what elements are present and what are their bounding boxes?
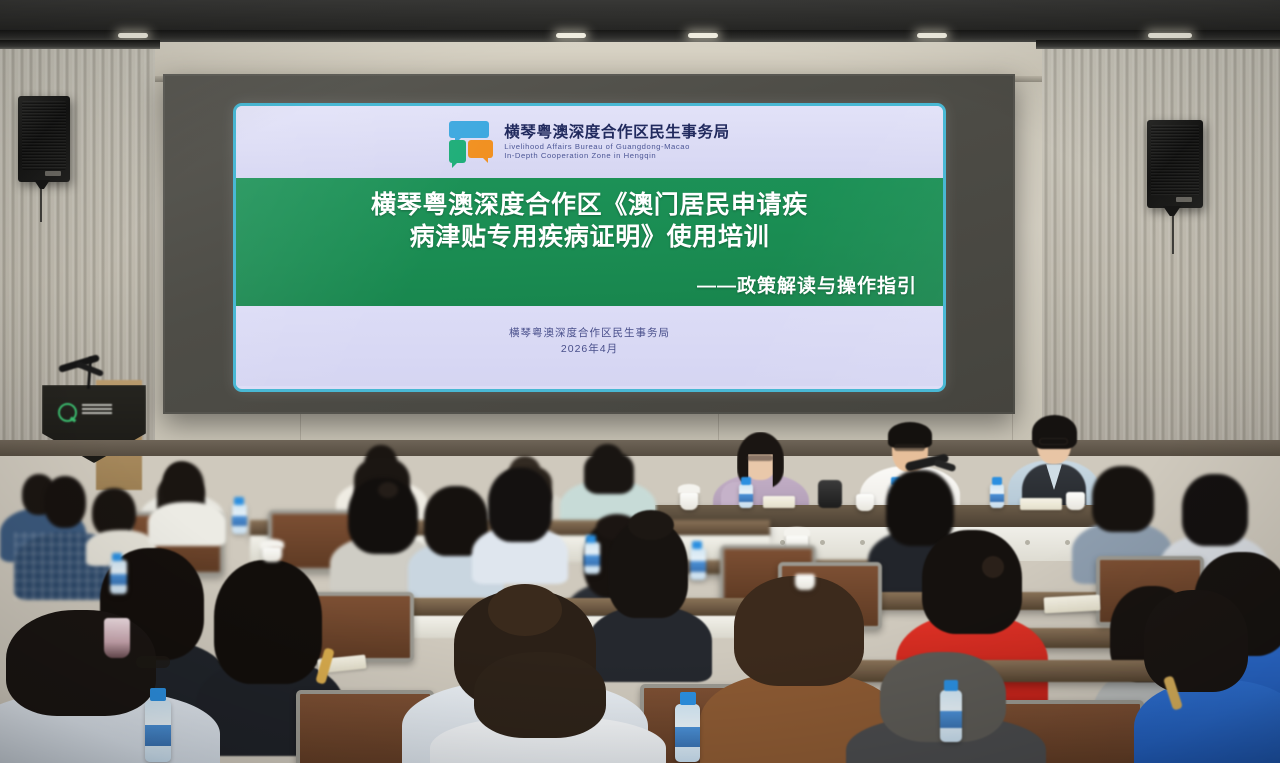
speaker-grille-icon	[1151, 125, 1199, 195]
audience-hair	[214, 560, 322, 684]
water-bottle	[675, 704, 700, 762]
hair-ponytail	[628, 510, 674, 540]
downlight	[688, 33, 718, 38]
tea-cup-lid	[678, 484, 700, 493]
audience-member	[472, 468, 568, 568]
slide-footer-text: 横琴粤澳深度合作区民生事务局 2026年4月	[236, 325, 943, 358]
paper-pad	[763, 496, 795, 508]
footer-date: 2026年4月	[236, 341, 943, 357]
bottle-cap	[112, 553, 122, 561]
downlight	[556, 33, 586, 38]
bottle-cap	[234, 497, 244, 505]
slide-header: 横琴粤澳深度合作区民生事务局 Livelihood Affairs Bureau…	[236, 106, 943, 178]
audience-body	[1134, 680, 1280, 763]
bureau-logo-icon	[449, 121, 493, 163]
downlight	[917, 33, 947, 38]
bottle-label	[940, 711, 962, 729]
drink-cup	[104, 618, 130, 658]
curtain-rail-right	[1036, 40, 1280, 49]
audience-hair	[1182, 474, 1248, 546]
panelist-center-glasses-icon	[894, 444, 925, 451]
bottle-label	[232, 516, 247, 526]
tea-cup	[795, 574, 815, 590]
audience-hair	[584, 452, 634, 494]
audience-member-foreground	[430, 686, 666, 763]
organization-name-block: 横琴粤澳深度合作区民生事务局 Livelihood Affairs Bureau…	[504, 124, 729, 161]
thermos	[818, 480, 842, 508]
audience-hair	[1144, 590, 1248, 692]
wall-speaker-right	[1147, 120, 1203, 208]
speaker-cable-left	[40, 188, 42, 222]
downlight	[118, 33, 148, 38]
notepad	[1044, 595, 1101, 614]
slide-subtitle: ——政策解读与操作指引	[697, 271, 917, 298]
bottle-label	[145, 725, 171, 746]
audience-member	[148, 462, 226, 536]
bottle-cap	[150, 688, 166, 701]
audience-member-foreground	[1134, 596, 1280, 763]
q-circle-logo-icon	[58, 403, 77, 422]
water-bottle	[739, 484, 753, 508]
bottle-label	[675, 727, 700, 747]
projection-screen-frame: 横琴粤澳深度合作区民生事务局 Livelihood Affairs Bureau…	[163, 74, 1015, 414]
audience-hair	[886, 470, 954, 546]
audience-hair	[1092, 466, 1154, 532]
bottle-cap	[680, 692, 696, 705]
presentation-slide: 横琴粤澳深度合作区民生事务局 Livelihood Affairs Bureau…	[233, 103, 946, 392]
panelist-right-glasses-icon	[1039, 438, 1068, 445]
slide-footer: 横琴粤澳深度合作区民生事务局 2026年4月	[236, 306, 943, 386]
speaker-badge	[45, 171, 61, 176]
paper-pad	[1020, 498, 1062, 510]
bottle-cap	[741, 477, 751, 485]
bottle-cap	[992, 477, 1002, 485]
speaker-badge	[1176, 197, 1192, 202]
downlight	[1148, 33, 1192, 38]
slide-title-line-1: 横琴粤澳深度合作区《澳门居民申请疾	[236, 189, 943, 221]
tea-cup-lid	[260, 539, 284, 548]
panelist-left-glasses-icon	[747, 455, 773, 461]
audience-hair	[488, 468, 552, 542]
water-bottle	[232, 504, 247, 534]
tea-cup	[680, 492, 698, 510]
speaker-cable-right	[1172, 214, 1174, 254]
bottle-label	[990, 494, 1004, 502]
org-name-chinese: 横琴粤澳深度合作区民生事务局	[504, 124, 729, 141]
slide-title-band: 横琴粤澳深度合作区《澳门居民申请疾 病津贴专用疾病证明》使用培训 ——政策解读与…	[236, 178, 943, 306]
water-bottle	[990, 484, 1004, 508]
slide-title-line-2: 病津贴专用疾病证明》使用培训	[236, 221, 943, 253]
bottle-label	[110, 574, 127, 586]
water-bottle	[940, 690, 962, 742]
table-vent	[860, 540, 865, 545]
audience-member	[86, 488, 156, 548]
wall-speaker-left	[18, 96, 70, 182]
glasses-icon	[136, 656, 170, 668]
tea-cup	[262, 546, 282, 562]
curtain-right	[1042, 42, 1280, 442]
hair-clip	[378, 482, 398, 498]
organization-branding: 横琴粤澳深度合作区民生事务局 Livelihood Affairs Bureau…	[449, 121, 729, 163]
audience-hair	[6, 610, 156, 716]
curtain-rail-left	[0, 40, 160, 49]
water-bottle	[690, 548, 706, 580]
tea-cup-lid	[784, 527, 810, 536]
table-vent	[820, 540, 825, 545]
audience-hair	[474, 652, 606, 738]
hair-bun	[488, 584, 562, 636]
logo-green-bubble	[449, 140, 466, 163]
water-bottle	[110, 560, 127, 594]
slide-title: 横琴粤澳深度合作区《澳门居民申请疾 病津贴专用疾病证明》使用培训	[236, 189, 943, 253]
bottle-label	[690, 561, 706, 572]
footer-organization: 横琴粤澳深度合作区民生事务局	[236, 325, 943, 341]
audience-member	[1072, 466, 1172, 570]
logo-blue-bubble	[449, 121, 489, 138]
speaker-grille-icon	[22, 101, 67, 170]
podium-label	[82, 404, 112, 415]
bottle-label	[584, 555, 600, 566]
audience-hair	[734, 576, 864, 686]
conference-room-photo: 横琴粤澳深度合作区民生事务局 Livelihood Affairs Bureau…	[0, 0, 1280, 763]
bottle-cap	[692, 541, 702, 549]
table-vent	[1065, 540, 1070, 545]
bottle-label	[739, 494, 753, 502]
audience-body	[148, 502, 226, 546]
audience-head	[44, 476, 86, 528]
bottle-cap	[944, 680, 958, 691]
audience-hair	[922, 530, 1022, 634]
hair-clip	[982, 556, 1004, 578]
water-bottle	[145, 700, 171, 762]
org-name-english-2: In-Depth Cooperation Zone in Hengqin	[504, 152, 729, 161]
water-bottle	[584, 542, 600, 574]
logo-orange-bubble	[468, 140, 493, 158]
bottle-cap	[586, 535, 596, 543]
